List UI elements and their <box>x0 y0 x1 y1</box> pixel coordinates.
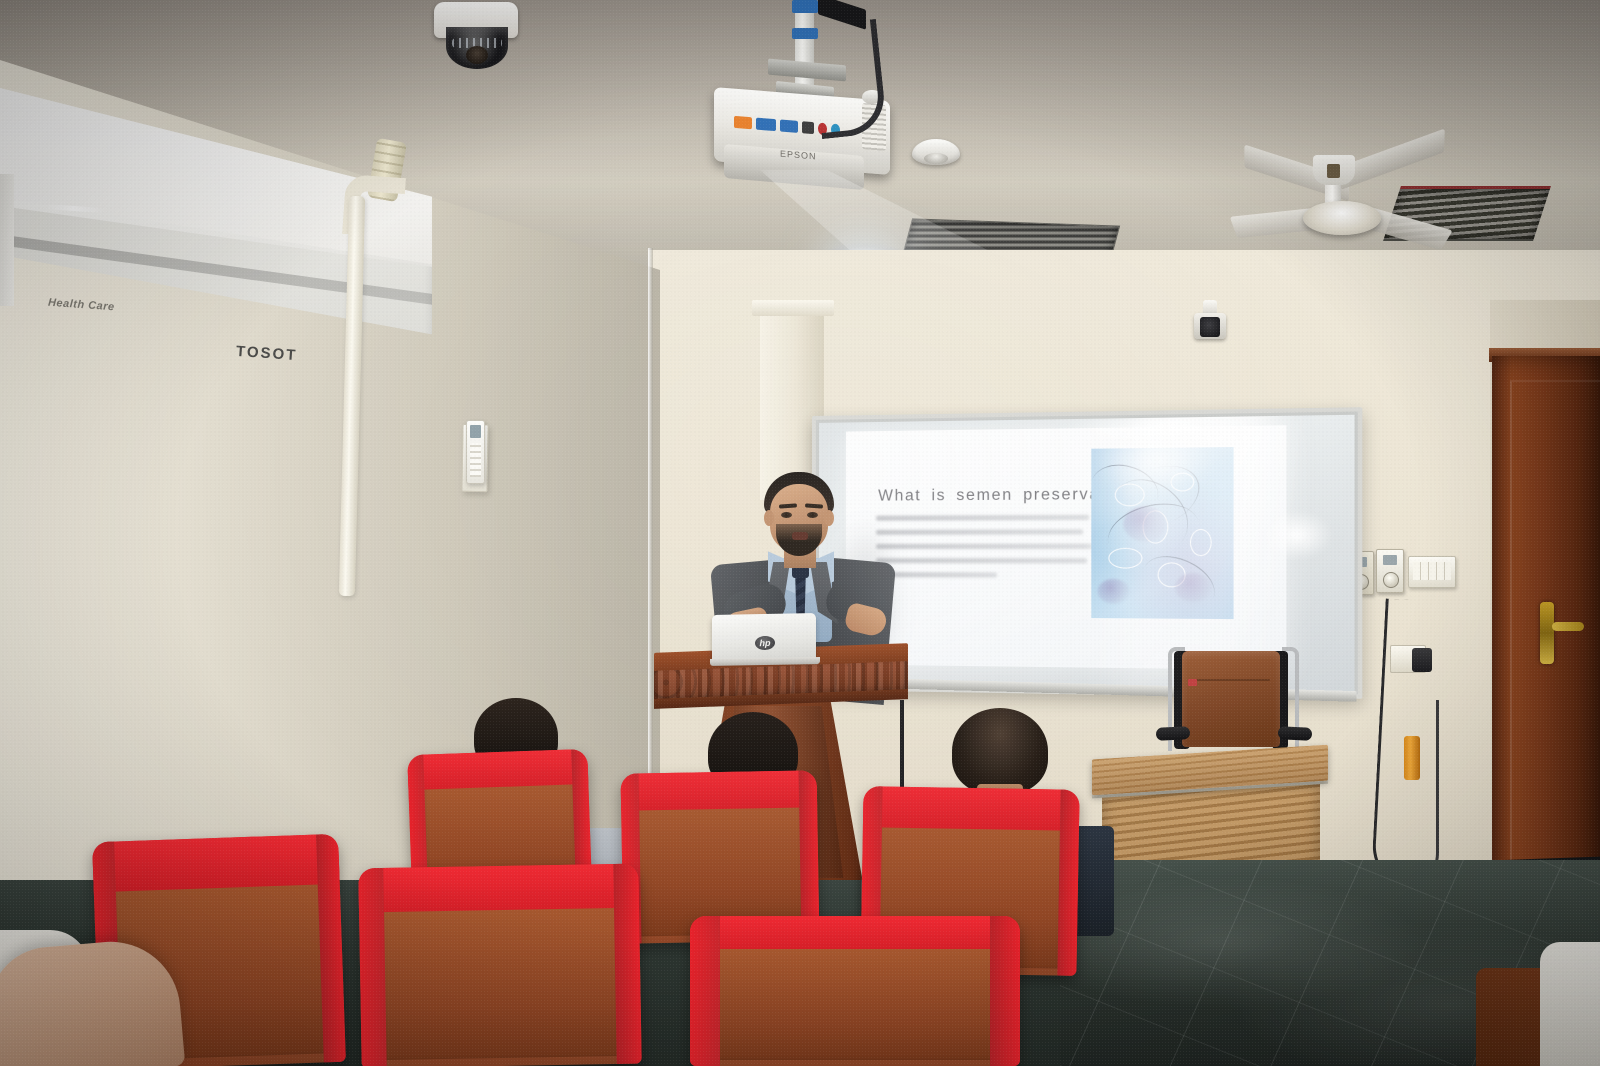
seat-rim-top <box>407 749 588 790</box>
seat-rim-top <box>358 864 639 913</box>
seat-rim-top <box>863 786 1080 831</box>
audience-seat[interactable] <box>690 916 1020 1066</box>
presenter-ear-left <box>764 510 774 526</box>
ac-remote-control[interactable] <box>466 420 485 484</box>
presenter-mouth <box>792 532 808 540</box>
fan-speed-regulator-2[interactable] <box>1376 549 1404 593</box>
door-escutcheon-plate[interactable] <box>1540 602 1554 664</box>
foreground-person-right <box>1540 942 1600 1066</box>
lecture-hall-photo: EPSON <box>0 0 1600 1066</box>
fan-motor-hub <box>1303 201 1381 235</box>
seat-cushion <box>378 896 622 1060</box>
projector-hdmi-port <box>802 121 814 134</box>
ac-logo-mark: Health Care <box>48 297 115 314</box>
wall-pillar-capital <box>752 300 834 316</box>
light-switch-panel[interactable] <box>1408 556 1456 588</box>
seat-rim-left <box>358 868 387 1066</box>
audience-head-3 <box>952 708 1048 794</box>
audience-hair <box>952 708 1048 794</box>
chair-backrest <box>1182 651 1280 747</box>
presenter-eye-left <box>781 512 792 518</box>
whiteboard-glare-top <box>1062 407 1267 447</box>
ceiling-projector: EPSON <box>712 0 892 190</box>
remote-screen <box>470 425 481 438</box>
seat-rim-top <box>621 770 818 811</box>
bullet-camera-lens <box>1200 317 1220 337</box>
seat-rim-right <box>1057 790 1080 976</box>
projector-blue-tape <box>792 0 818 13</box>
smoke-detector-icon <box>912 139 960 165</box>
seat-rim-top <box>690 916 1020 949</box>
orange-wall-fixture <box>1404 736 1420 780</box>
presenter-ear-right <box>824 510 834 526</box>
fan-canopy <box>1313 155 1355 185</box>
projector-vga-port-2 <box>780 120 798 133</box>
seat-rim-right <box>613 864 642 1064</box>
teacher-chair[interactable] <box>1158 645 1308 761</box>
chair-armrest-right <box>1278 726 1313 741</box>
audience-seat[interactable] <box>358 864 641 1066</box>
remote-buttons[interactable] <box>470 443 481 477</box>
door-handle-lever[interactable] <box>1552 622 1584 631</box>
chair-label-tag <box>1188 679 1197 686</box>
presenter-eye-right <box>807 512 818 518</box>
seat-rim-left <box>690 916 720 1066</box>
laptop-base <box>710 657 820 666</box>
bullet-cctv-camera-icon <box>1192 300 1228 342</box>
seat-cushion <box>713 940 997 1060</box>
dome-camera-lens <box>466 46 488 64</box>
whiteboard-glare-spot <box>1260 510 1333 561</box>
ac-side-cap <box>0 174 14 306</box>
presenter-laptop[interactable]: hp <box>712 614 816 666</box>
chair-armrest-left <box>1156 726 1191 741</box>
regulator-display-2 <box>1383 555 1397 565</box>
projector-port-orange <box>734 116 752 129</box>
door-panel <box>1510 380 1600 892</box>
seat-rim-right <box>990 916 1020 1066</box>
seat-rim-top <box>92 834 340 893</box>
projector-vga-port-1 <box>756 118 776 132</box>
dome-cctv-camera-icon <box>430 2 522 72</box>
